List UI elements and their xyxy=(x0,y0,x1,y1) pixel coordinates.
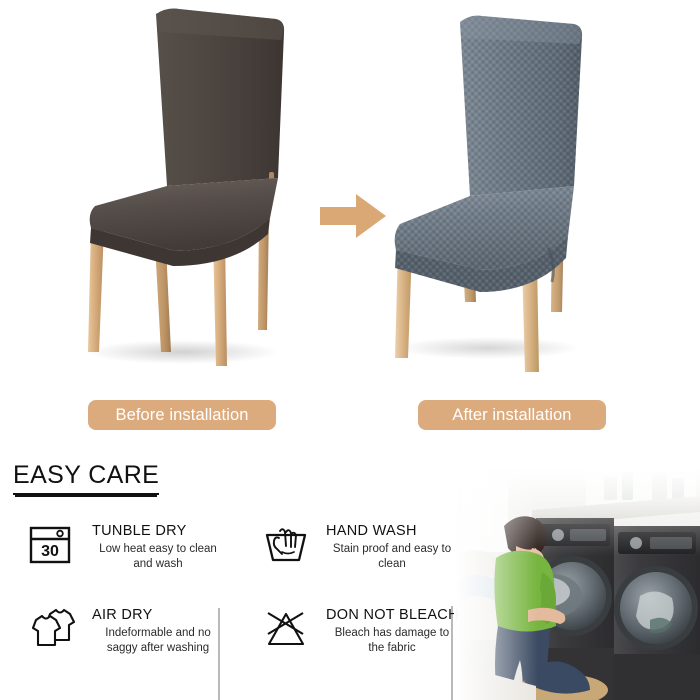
care-item-description: Indeformable and no saggy after washing xyxy=(92,626,224,655)
care-item-tumble-dry: 30 TUNBLE DRY Low heat easy to clean and… xyxy=(28,522,224,578)
care-item-title: TUNBLE DRY xyxy=(92,522,224,540)
do-not-bleach-icon xyxy=(262,606,320,662)
air-dry-shirts-icon xyxy=(28,606,86,662)
care-item-title: HAND WASH xyxy=(326,522,458,540)
tumble-dry-temp-value: 30 xyxy=(41,543,59,560)
care-item-description: Bleach has damage to the fabric xyxy=(326,626,458,655)
care-item-description: Low heat easy to clean and wash xyxy=(92,542,224,571)
hand-wash-icon xyxy=(262,522,320,578)
before-chair-image xyxy=(55,0,355,390)
after-installation-label: After installation xyxy=(418,400,606,430)
before-after-comparison: Before installation After installation xyxy=(0,0,700,440)
easy-care-section: EASY CARE xyxy=(0,440,700,700)
care-item-description: Stain proof and easy to clean xyxy=(326,542,458,571)
care-item-title: AIR DRY xyxy=(92,606,224,624)
care-instructions-grid: 30 TUNBLE DRY Low heat easy to clean and… xyxy=(0,518,460,694)
care-item-do-not-bleach: DON NOT BLEACH Bleach has damage to the … xyxy=(262,606,459,662)
chair-graphic-after xyxy=(370,0,670,390)
tumble-dry-icon: 30 xyxy=(28,522,86,578)
before-installation-label: Before installation xyxy=(88,400,276,430)
product-infographic: Before installation After installation E… xyxy=(0,0,700,700)
care-item-title: DON NOT BLEACH xyxy=(326,606,459,624)
easy-care-heading: EASY CARE xyxy=(13,461,159,495)
after-chair-image xyxy=(370,0,670,390)
laundry-photo xyxy=(454,468,700,700)
care-item-air-dry: AIR DRY Indeformable and no saggy after … xyxy=(28,606,224,662)
care-item-hand-wash: HAND WASH Stain proof and easy to clean xyxy=(262,522,458,578)
chair-graphic-before xyxy=(55,0,355,390)
